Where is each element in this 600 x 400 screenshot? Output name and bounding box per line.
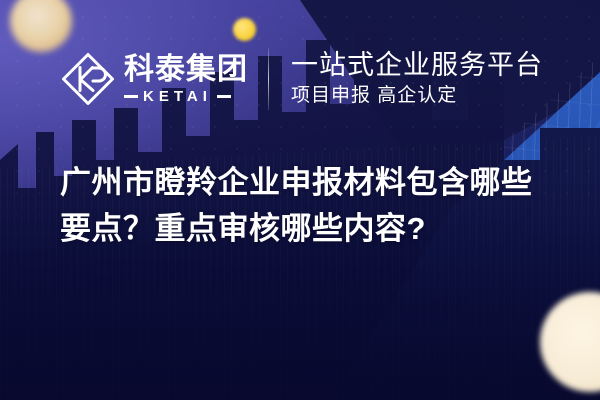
dash-left-icon [124,95,138,98]
tagline-sub: 项目申报 高企认定 [291,85,543,108]
brand-header: 科泰集团 KETAI 一站式企业服务平台 项目申报 高企认定 [60,44,543,114]
headline: 广州市瞪羚企业申报材料包含哪些 要点？重点审核哪些内容? [60,160,560,252]
brand-divider [268,48,269,110]
brand-name-cn: 科泰集团 [124,54,248,86]
tagline-main: 一站式企业服务平台 [291,50,543,80]
brand-name-en-row: KETAI [124,89,248,104]
headline-line-1: 广州市瞪羚企业申报材料包含哪些 [60,160,560,206]
ketai-kp-monogram-icon [60,51,116,107]
gold-dot-circle-icon [233,18,256,41]
dash-right-icon [217,95,231,98]
tagline-block: 一站式企业服务平台 项目申报 高企认定 [291,50,543,108]
brand-name-en: KETAI [143,89,212,104]
headline-line-2: 要点？重点审核哪些内容? [60,206,560,252]
brand-wordmark: 科泰集团 KETAI [124,54,248,104]
promo-banner: 科泰集团 KETAI 一站式企业服务平台 项目申报 高企认定 广州市瞪羚企业申报… [0,0,600,400]
